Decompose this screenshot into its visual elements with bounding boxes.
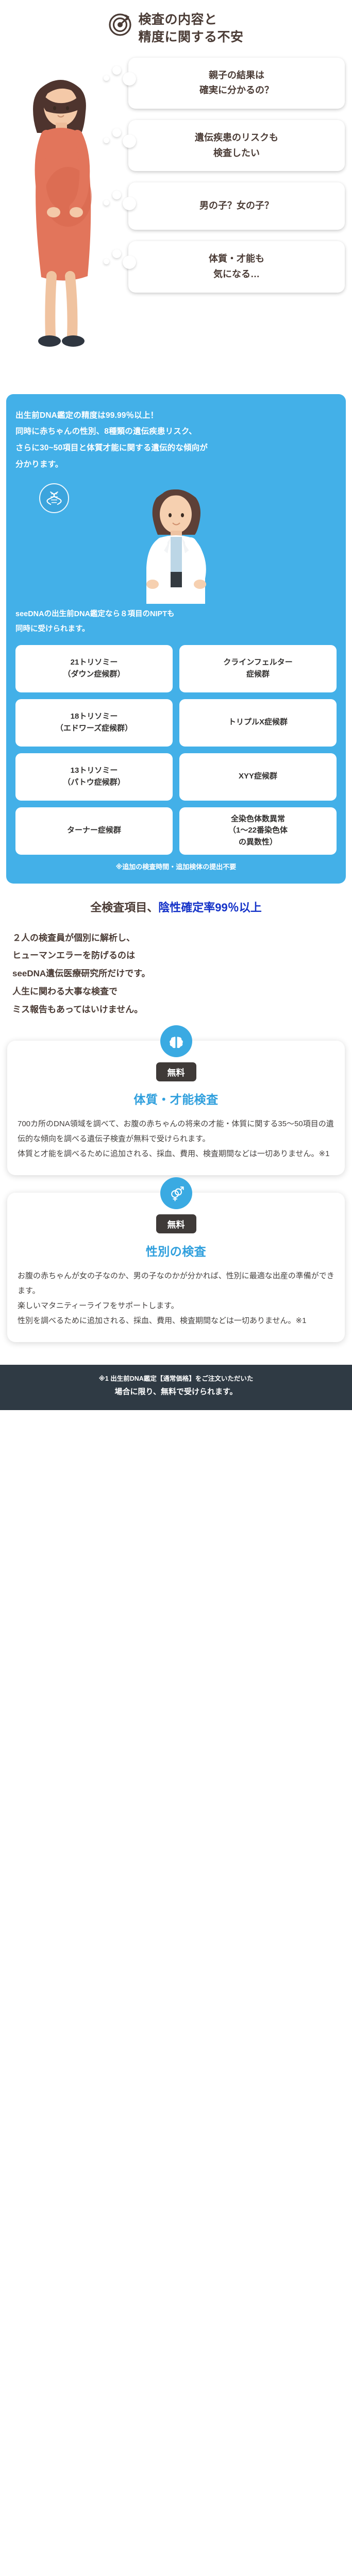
footer-note-line-2: 場合に限り、無料で受けられます。 xyxy=(6,1385,346,1399)
bubble-line-2: 気になる… xyxy=(213,269,260,279)
condition-cell: クラインフェルター 症候群 xyxy=(179,645,337,692)
blue-lead-line-2: 同時に赤ちゃんの性別、8種類の遺伝疾患リスク、 xyxy=(15,423,337,440)
condition-cell: 21トリソミー （ダウン症候群） xyxy=(15,645,173,692)
target-icon xyxy=(108,12,133,37)
gender-icon xyxy=(160,1177,192,1209)
condition-label: 全染色体数異常 （1〜22番染色体 の異数性） xyxy=(228,814,288,849)
speech-bubble: 体質・才能も 気になる… xyxy=(128,241,345,292)
free-card-constitution: 無料 体質・才能検査 700カ所のDNA領域を調べて、お腹の赤ちゃんの将来の才能… xyxy=(7,1041,345,1175)
blue-sub-line-1: seeDNAの出生前DNA鑑定なら８項目のNIPTも xyxy=(15,607,337,622)
free-badge-wrap: 無料 xyxy=(18,1210,334,1233)
footer-note-bar: ※1 出生前DNA鑑定【通常価格】をご注文いただいた 場合に限り、無料で受けられ… xyxy=(0,1365,352,1411)
free-card-gender: 無料 性別の検査 お腹の赤ちゃんが女の子なのか、男の子なのかが分かれば、性別に最… xyxy=(7,1193,345,1342)
bubble-dot-small xyxy=(104,138,109,143)
blue-sub-line-2: 同時に受けられます。 xyxy=(15,622,337,637)
bubble-tail xyxy=(123,197,136,210)
condition-label: トリプルX症候群 xyxy=(228,717,288,728)
bubble-line-2: 検査したい xyxy=(213,148,260,158)
card-title: 体質・才能検査 xyxy=(18,1090,334,1107)
accuracy-body-line-4: 人生に関わる大事な検査で xyxy=(12,983,340,1001)
blue-lead-line-1: 出生前DNA鑑定の精度は99.99％以上！ xyxy=(15,408,337,424)
accuracy-section: 全検査項目、陰性確定率99％以上 ２人の検査員が個別に解析し、 ヒューマンエラー… xyxy=(0,884,352,1023)
condition-label: XYY症候群 xyxy=(239,771,277,783)
accuracy-body-line-2: ヒューマンエラーを防げるのは xyxy=(12,947,340,965)
accuracy-headline-blue: 陰性確定率99％以上 xyxy=(158,901,261,914)
speech-bubble: 遺伝疾患のリスクも 検査したい xyxy=(128,120,345,171)
condition-note: ※追加の検査時間・追加検体の提出不要 xyxy=(15,861,337,871)
bubble-line-1: 体質・才能も xyxy=(209,253,264,264)
bubble-line-1: 親子の結果は xyxy=(209,70,264,80)
condition-cell: 18トリソミー （エドワーズ症候群） xyxy=(15,699,173,747)
condition-cell: 全染色体数異常 （1〜22番染色体 の異数性） xyxy=(179,807,337,855)
accuracy-body-line-5: ミス報告もあってはいけません。 xyxy=(12,1001,340,1019)
speech-bubble-list: 親子の結果は 確実に分かるの？ 遺伝疾患のリスクも 検査したい 男の子？女の子？ xyxy=(128,58,345,293)
accuracy-body-line-1: ２人の検査員が個別に解析し、 xyxy=(12,929,340,947)
accuracy-body: ２人の検査員が個別に解析し、 ヒューマンエラーを防げるのは seeDNA遺伝医療… xyxy=(9,929,343,1019)
free-badge-wrap: 無料 xyxy=(18,1058,334,1081)
bubble-line-1: 男の子？女の子？ xyxy=(199,200,274,211)
card-title: 性別の検査 xyxy=(18,1242,334,1259)
free-badge: 無料 xyxy=(156,1214,196,1233)
accuracy-headline-dark: 全検査項目、 xyxy=(90,901,158,914)
page-heading: 検査の内容と 精度に関する不安 xyxy=(0,0,352,49)
accuracy-headline: 全検査項目、陰性確定率99％以上 xyxy=(9,899,343,916)
blue-info-panel: 出生前DNA鑑定の精度は99.99％以上！ 同時に赤ちゃんの性別、8種類の遺伝疾… xyxy=(6,394,346,884)
hero-section: 親子の結果は 確実に分かるの？ 遺伝疾患のリスクも 検査したい 男の子？女の子？ xyxy=(0,53,352,385)
card-body: お腹の赤ちゃんが女の子なのか、男の子なのかが分かれば、性別に最適な出産の準備がで… xyxy=(18,1268,334,1329)
landing-page: 検査の内容と 精度に関する不安 xyxy=(0,0,352,1441)
condition-label: ターナー症候群 xyxy=(67,825,121,837)
condition-label: 21トリソミー （ダウン症候群） xyxy=(63,657,125,680)
bubble-dot-medium xyxy=(112,249,121,258)
page-title: 検査の内容と 精度に関する不安 xyxy=(138,11,243,46)
speech-bubble: 男の子？女の子？ xyxy=(128,182,345,230)
doctor-illustration xyxy=(121,475,231,604)
bubble-line-1: 遺伝疾患のリスクも xyxy=(195,132,278,143)
bubble-dot-medium xyxy=(112,191,121,199)
bubble-dot-small xyxy=(104,75,109,81)
condition-cell: XYY症候群 xyxy=(179,753,337,801)
accuracy-body-line-3: seeDNA遺伝医療研究所だけです。 xyxy=(12,965,340,983)
blue-panel-lead: 出生前DNA鑑定の精度は99.99％以上！ 同時に赤ちゃんの性別、8種類の遺伝疾… xyxy=(15,408,337,473)
doctor-illustration-wrap xyxy=(15,475,337,604)
condition-cell: ターナー症候群 xyxy=(15,807,173,855)
speech-bubble: 親子の結果は 確実に分かるの？ xyxy=(128,58,345,109)
dna-icon xyxy=(39,483,69,513)
blue-panel-subtext: seeDNAの出生前DNA鑑定なら８項目のNIPTも 同時に受けられます。 xyxy=(15,607,337,637)
footer-note-line-1: ※1 出生前DNA鑑定【通常価格】をご注文いただいた xyxy=(6,1373,346,1385)
blue-lead-line-4: 分かります。 xyxy=(15,456,337,473)
bubble-tail xyxy=(123,72,136,86)
page-title-line-1: 検査の内容と xyxy=(138,11,243,29)
blue-lead-line-3: さらに30~50項目と体質才能に関する遺伝的な傾向が xyxy=(15,440,337,456)
free-badge: 無料 xyxy=(156,1062,196,1081)
condition-grid: 21トリソミー （ダウン症候群） クラインフェルター 症候群 18トリソミー （… xyxy=(15,645,337,855)
bubble-tail xyxy=(123,134,136,148)
bottom-spacer xyxy=(0,1410,352,1441)
pregnant-woman-illustration xyxy=(12,68,110,367)
bubble-dot-medium xyxy=(112,66,121,75)
condition-cell: 13トリソミー （パトウ症候群） xyxy=(15,753,173,801)
card-body: 700カ所のDNA領域を調べて、お腹の赤ちゃんの将来の才能・体質に関する35〜5… xyxy=(18,1116,334,1162)
brain-icon xyxy=(160,1025,192,1057)
condition-label: 18トリソミー （エドワーズ症候群） xyxy=(56,711,132,734)
condition-cell: トリプルX症候群 xyxy=(179,699,337,747)
condition-label: クラインフェルター 症候群 xyxy=(223,657,293,680)
bubble-tail xyxy=(123,256,136,269)
condition-label: 13トリソミー （パトウ症候群） xyxy=(63,765,125,788)
bubble-dot-medium xyxy=(112,128,121,137)
page-title-line-2: 精度に関する不安 xyxy=(138,29,243,46)
bubble-line-2: 確実に分かるの？ xyxy=(199,85,274,95)
